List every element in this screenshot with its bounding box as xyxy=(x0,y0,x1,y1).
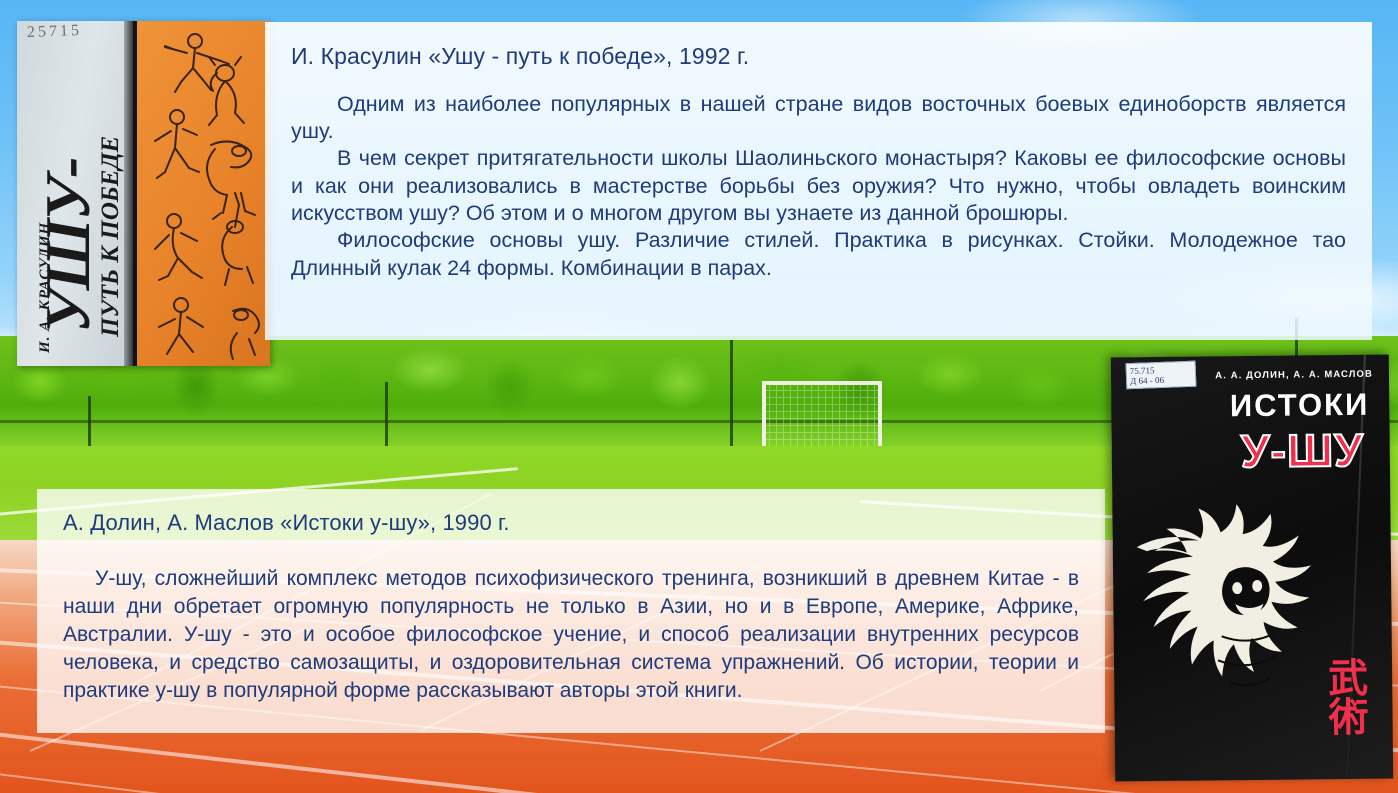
soccer-goal xyxy=(762,381,882,447)
slide: 25715 УШУ- ПУТЬ К ПОБЕДЕ И. А. КРАСУЛИН xyxy=(0,0,1398,793)
goal-net xyxy=(762,381,882,447)
bottom-text-panel: А. Долин, А. Маслов «Истоки у-шу», 1990 … xyxy=(37,489,1105,733)
top-panel-paragraph-3: Философские основы ушу. Различие стилей.… xyxy=(291,227,1346,282)
bottom-panel-title: А. Долин, А. Маслов «Истоки у-шу», 1990 … xyxy=(63,509,1079,537)
light-pole xyxy=(730,340,733,458)
bottom-panel-paragraph-1: У-шу, сложнейший комплекс методов психоф… xyxy=(63,565,1079,706)
book2-title-accent: У-ШУ xyxy=(1241,423,1364,478)
book2-authors: А. А. ДОЛИН, А. А. МАСЛОВ xyxy=(1215,369,1373,382)
book1-shelf-number: 25715 xyxy=(27,22,83,42)
book-cover-ushu-put-k-pobede: 25715 УШУ- ПУТЬ К ПОБЕДЕ И. А. КРАСУЛИН xyxy=(17,21,270,366)
book1-subtitle: ПУТЬ К ПОБЕДЕ xyxy=(97,136,125,337)
martial-arts-figure-drawings xyxy=(137,21,270,366)
book1-spine-shadow xyxy=(124,21,133,366)
book2-title: ИСТОКИ xyxy=(1230,387,1370,424)
top-text-panel: И. Красулин «Ушу - путь к победе», 1992 … xyxy=(265,22,1372,340)
top-panel-title: И. Красулин «Ушу - путь к победе», 1992 … xyxy=(291,42,1346,71)
book2-library-sticker: 75.715 Д 64 - 06 xyxy=(1126,361,1197,390)
top-panel-paragraph-2: В чем секрет притягательности школы Шаол… xyxy=(291,145,1346,227)
book1-author: И. А. КРАСУЛИН xyxy=(37,222,54,353)
top-panel-paragraph-1: Одним из наиболее популярных в нашей стр… xyxy=(291,91,1346,146)
book1-front-panel: 25715 УШУ- ПУТЬ К ПОБЕДЕ И. А. КРАСУЛИН xyxy=(17,21,137,366)
book-cover-istoki-u-shu: 75.715 Д 64 - 06 А. А. ДОЛИН, А. А. МАСЛ… xyxy=(1111,355,1393,782)
book1-illustration-panel xyxy=(137,21,270,366)
